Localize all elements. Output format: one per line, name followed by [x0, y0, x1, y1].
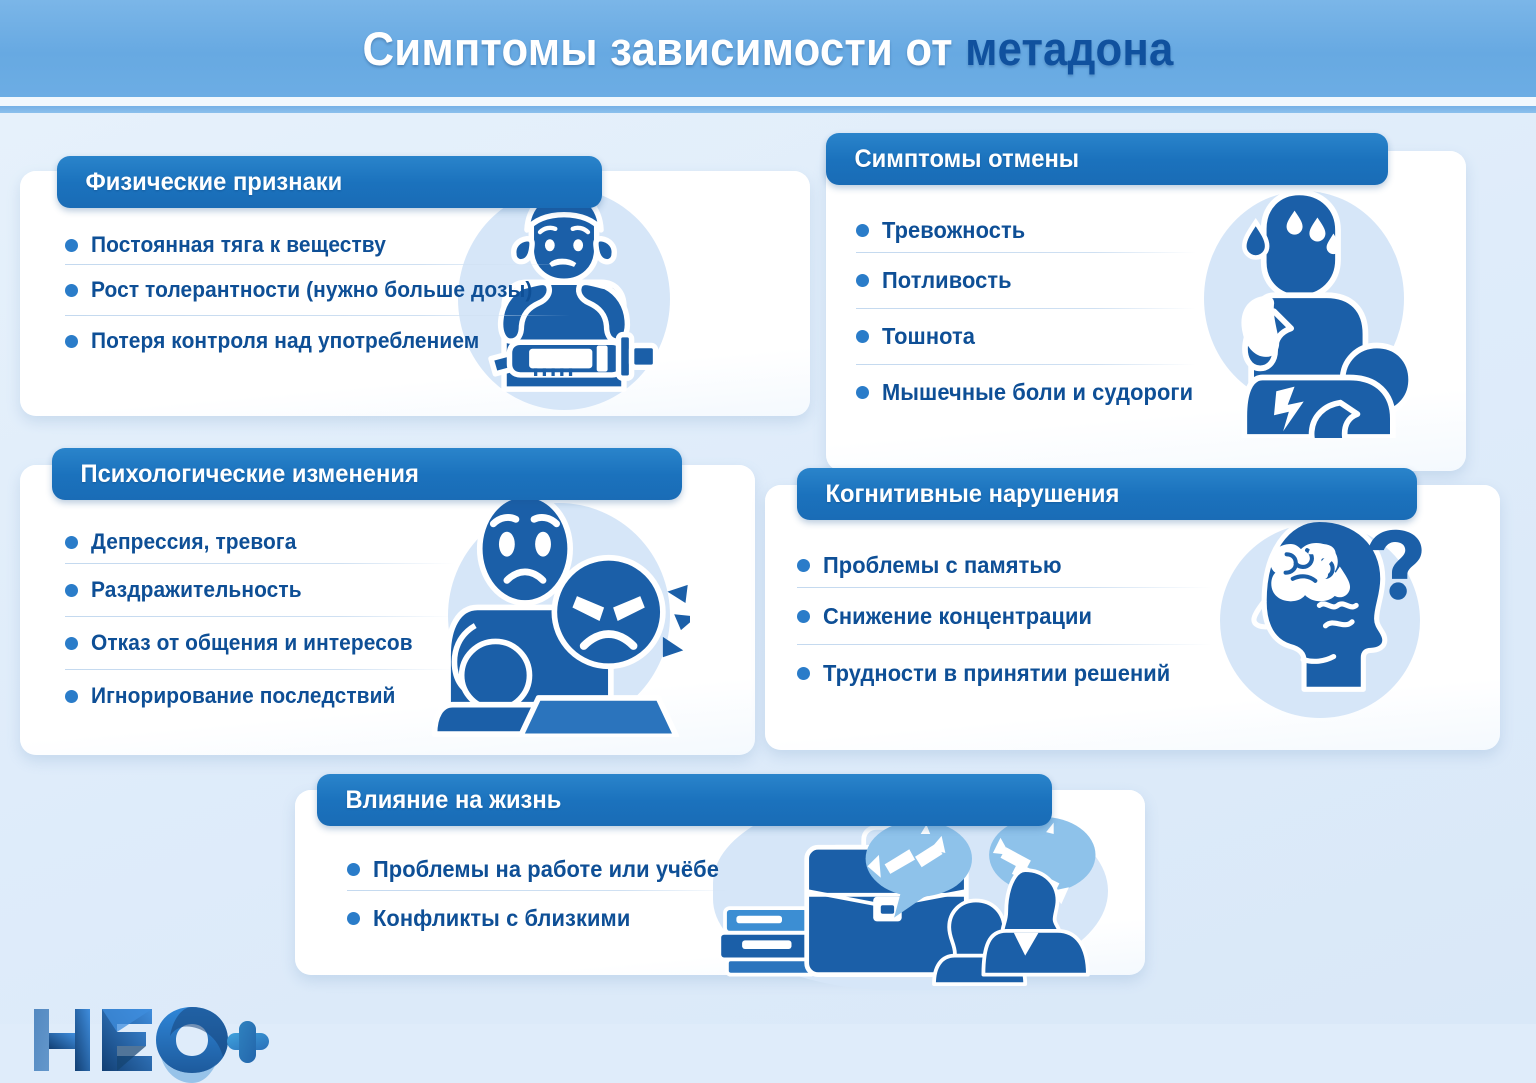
list-item: Тревожность — [856, 208, 1196, 252]
list-item: Раздражительность — [65, 564, 455, 616]
logo-letter-e — [102, 1009, 152, 1071]
bullet-icon — [65, 284, 78, 297]
page-title-accent: метадона — [965, 22, 1173, 75]
list-item-label: Потливость — [882, 267, 1012, 294]
bullet-icon — [347, 863, 360, 876]
card-title: Симптомы отмены — [826, 145, 1079, 174]
bullet-icon — [856, 224, 869, 237]
bullet-icon — [797, 610, 810, 623]
list-item: Потеря контроля над употреблением — [65, 316, 570, 366]
list-item-label: Потеря контроля над употреблением — [91, 328, 479, 354]
card-cognitive-impairment: Когнитивные нарушения Проблемы с памятью… — [765, 485, 1500, 750]
card-title: Когнитивные нарушения — [797, 480, 1119, 509]
page-title: Симптомы зависимости от метадона — [363, 21, 1174, 76]
header-divider-white — [0, 97, 1536, 106]
card-header-physical-signs: Физические признаки — [57, 156, 602, 208]
card-withdrawal-symptoms: Симптомы отмены Тревожность Потливость Т… — [826, 151, 1466, 471]
list-cognitive-impairment: Проблемы с памятью Снижение концентрации… — [797, 543, 1212, 701]
bullet-icon — [797, 667, 810, 680]
bullet-icon — [347, 912, 360, 925]
list-item-label: Трудности в принятии решений — [823, 660, 1170, 687]
brand-logo — [30, 997, 270, 1083]
list-item: Проблемы с памятью — [797, 543, 1212, 587]
list-item: Трудности в принятии решений — [797, 645, 1212, 701]
list-item: Отказ от общения и интересов — [65, 617, 455, 669]
list-item-label: Раздражительность — [91, 577, 302, 603]
list-item: Депрессия, тревога — [65, 521, 455, 563]
list-item: Тошнота — [856, 309, 1196, 364]
card-header-life-impact: Влияние на жизнь — [317, 774, 1052, 826]
logo-letter-n — [34, 1009, 90, 1071]
list-item: Потливость — [856, 253, 1196, 308]
bullet-icon — [856, 274, 869, 287]
list-withdrawal-symptoms: Тревожность Потливость Тошнота Мышечные … — [856, 208, 1196, 420]
card-title: Влияние на жизнь — [317, 786, 561, 815]
bullet-icon — [65, 637, 78, 650]
list-psychological-changes: Депрессия, тревога Раздражительность Отк… — [65, 521, 455, 722]
list-item-label: Игнорирование последствий — [91, 683, 396, 709]
bullet-icon — [65, 536, 78, 549]
list-item-label: Депрессия, тревога — [91, 529, 296, 555]
bullet-icon — [65, 335, 78, 348]
list-item-label: Конфликты с близкими — [373, 905, 630, 932]
list-item: Конфликты с близкими — [347, 891, 737, 945]
list-item-label: Проблемы с памятью — [823, 552, 1062, 579]
infographic-canvas: Физические признаки Постоянная тяга к ве… — [0, 113, 1536, 1024]
logo-plus — [227, 1021, 269, 1063]
page-title-main: Симптомы зависимости от — [363, 22, 966, 75]
list-item-label: Проблемы на работе или учёбе — [373, 856, 719, 883]
card-header-withdrawal-symptoms: Симптомы отмены — [826, 133, 1388, 185]
list-item-label: Тошнота — [882, 323, 975, 350]
page-header: Симптомы зависимости от метадона — [0, 0, 1536, 97]
list-item: Снижение концентрации — [797, 588, 1212, 644]
card-title: Психологические изменения — [52, 460, 419, 489]
card-life-impact: Влияние на жизнь Проблемы на работе или … — [295, 790, 1145, 975]
card-header-psychological-changes: Психологические изменения — [52, 448, 682, 500]
list-item-label: Снижение концентрации — [823, 603, 1092, 630]
logo-letter-o — [156, 1007, 228, 1083]
bullet-icon — [856, 386, 869, 399]
sad-angry-faces-icon — [430, 487, 690, 737]
header-divider-blue — [0, 106, 1536, 113]
bullet-icon — [65, 690, 78, 703]
person-sweating-cramps-icon — [1194, 173, 1434, 438]
list-item: Постоянная тяга к веществу — [65, 226, 570, 264]
list-item-label: Тревожность — [882, 217, 1025, 244]
list-item: Игнорирование последствий — [65, 670, 455, 722]
list-item-label: Отказ от общения и интересов — [91, 630, 413, 656]
list-life-impact: Проблемы на работе или учёбе Конфликты с… — [347, 848, 737, 945]
bullet-icon — [65, 239, 78, 252]
bullet-icon — [797, 559, 810, 572]
bullet-icon — [856, 330, 869, 343]
bullet-icon — [65, 584, 78, 597]
list-item-label: Рост толерантности (нужно больше дозы) — [91, 277, 532, 303]
card-title: Физические признаки — [57, 168, 342, 197]
list-item: Мышечные боли и судороги — [856, 365, 1196, 420]
card-physical-signs: Физические признаки Постоянная тяга к ве… — [20, 171, 810, 416]
head-brain-question-icon — [1213, 507, 1438, 712]
list-item: Рост толерантности (нужно больше дозы) — [65, 265, 570, 315]
list-item-label: Постоянная тяга к веществу — [91, 232, 386, 258]
card-psychological-changes: Психологические изменения Депрессия, тре… — [20, 465, 755, 755]
card-header-cognitive-impairment: Когнитивные нарушения — [797, 468, 1417, 520]
list-item: Проблемы на работе или учёбе — [347, 848, 737, 890]
list-physical-signs: Постоянная тяга к веществу Рост толерант… — [65, 226, 570, 366]
list-item-label: Мышечные боли и судороги — [882, 379, 1193, 406]
